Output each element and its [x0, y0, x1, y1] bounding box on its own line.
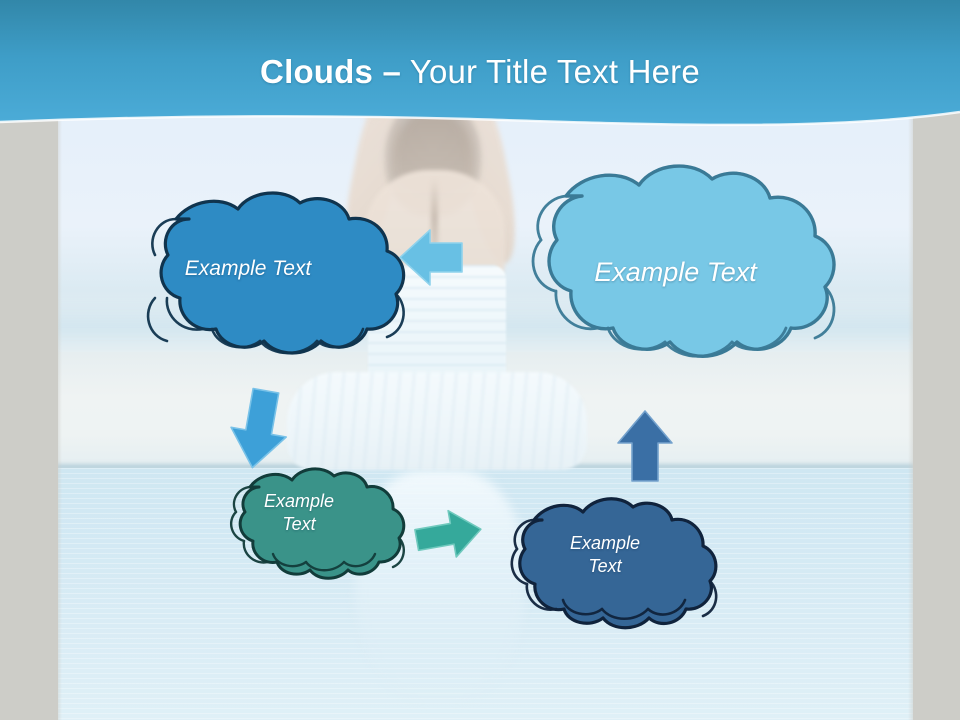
- slide-canvas: Clouds – Your Title Text Here: [0, 0, 960, 720]
- cloud-green[interactable]: [231, 469, 404, 578]
- cloud-left[interactable]: [148, 193, 404, 353]
- arrow-up[interactable]: [618, 411, 672, 481]
- cloud-big[interactable]: [533, 166, 834, 356]
- cloud-navy[interactable]: [512, 499, 716, 628]
- arrow-right[interactable]: [413, 506, 485, 564]
- arrow-left[interactable]: [400, 230, 462, 285]
- arrow-down[interactable]: [225, 386, 294, 473]
- diagram-shapes: Example Text Example Text Example Text E…: [0, 0, 960, 720]
